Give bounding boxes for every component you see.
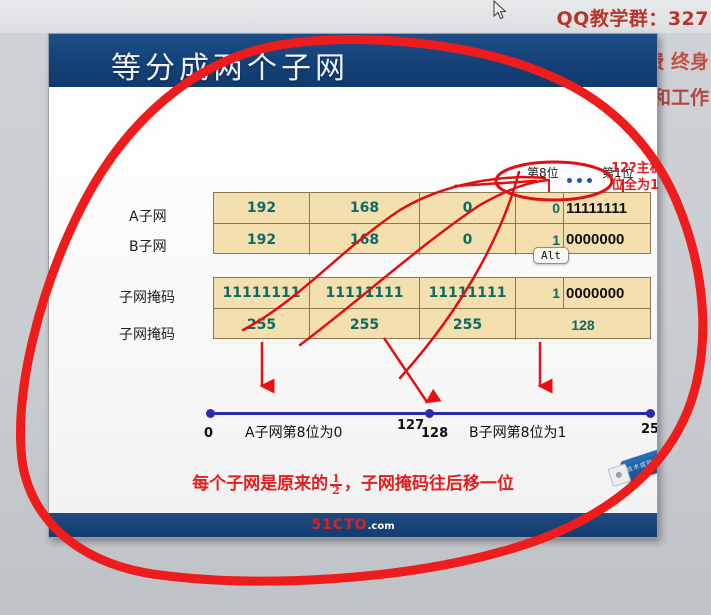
table-row: 192 168 0 0 11111111 (214, 193, 650, 224)
presentation-slide: 等分成两个子网 第8位 第1位 A子网 B子网 子网掩码 子网掩码 192 16… (48, 33, 658, 538)
cell-a-bit8: 0 (516, 200, 563, 216)
address-table: 192 168 0 0 11111111 192 168 0 1 0000000 (213, 192, 651, 254)
cell-b-octet3: 0 (420, 224, 516, 255)
mask-to-line-arrows (49, 334, 657, 444)
cell-a-octet4: 0 11111111 (516, 193, 650, 223)
host-bits-note-line1: 12?主机 (611, 160, 707, 177)
cell-a-host-bits: 11111111 (563, 193, 650, 224)
host-bits-note-line2: 位全为1 (611, 177, 707, 194)
cell-a-octet2: 168 (310, 193, 420, 223)
cell-a-octet3: 0 (420, 193, 516, 223)
caption-text-before: 每个子网是原来的 (192, 474, 328, 494)
site-logo-suffix: .com (368, 521, 395, 532)
cell-a-octet1: 192 (214, 193, 310, 223)
cell-mask-bin-octet4: 1 0000000 (516, 278, 650, 308)
row-label-b-subnet: B子网 (129, 236, 167, 256)
row-label-a-subnet: A子网 (129, 206, 167, 226)
fraction-one-half: 12 (330, 474, 342, 496)
cell-b-host-bits: 0000000 (563, 224, 650, 255)
bit-label-8: 第8位 (527, 164, 559, 181)
slide-footer-bar: 51CTO.com (49, 513, 657, 537)
caption-text-after: ，子网掩码往后移一位 (344, 474, 514, 494)
cell-mask-bin-octet3: 11111111 (420, 278, 516, 308)
player-top-band (0, 0, 711, 33)
site-logo: 51CTO.com (311, 517, 394, 533)
table-row: 192 168 0 1 0000000 (214, 224, 650, 255)
cell-b-octet1: 192 (214, 224, 310, 255)
alt-key-tooltip: Alt (533, 247, 569, 264)
fraction-denominator: 2 (330, 486, 342, 496)
table-row: 11111111 11111111 11111111 1 0000000 (214, 278, 650, 309)
cell-mask-bin-octet2: 11111111 (310, 278, 420, 308)
cell-b-octet2: 168 (310, 224, 420, 255)
subnet-mask-table: 11111111 11111111 11111111 1 0000000 255… (213, 277, 651, 339)
cell-b-bit8: 1 (516, 232, 563, 248)
host-bits-note: 12?主机 位全为1 (611, 160, 707, 194)
slide-title: 等分成两个子网 (111, 43, 349, 87)
row-label-mask-binary: 子网掩码 (119, 287, 175, 307)
site-logo-main: 51CTO (311, 517, 367, 533)
cell-mask-bin-octet1: 11111111 (214, 278, 310, 308)
cell-mask-host-bits: 0000000 (563, 278, 650, 309)
bit-ellipsis-dots (567, 170, 597, 188)
slide-caption: 每个子网是原来的12，子网掩码往后移一位 (49, 469, 657, 496)
cell-mask-bit8: 1 (516, 285, 563, 301)
